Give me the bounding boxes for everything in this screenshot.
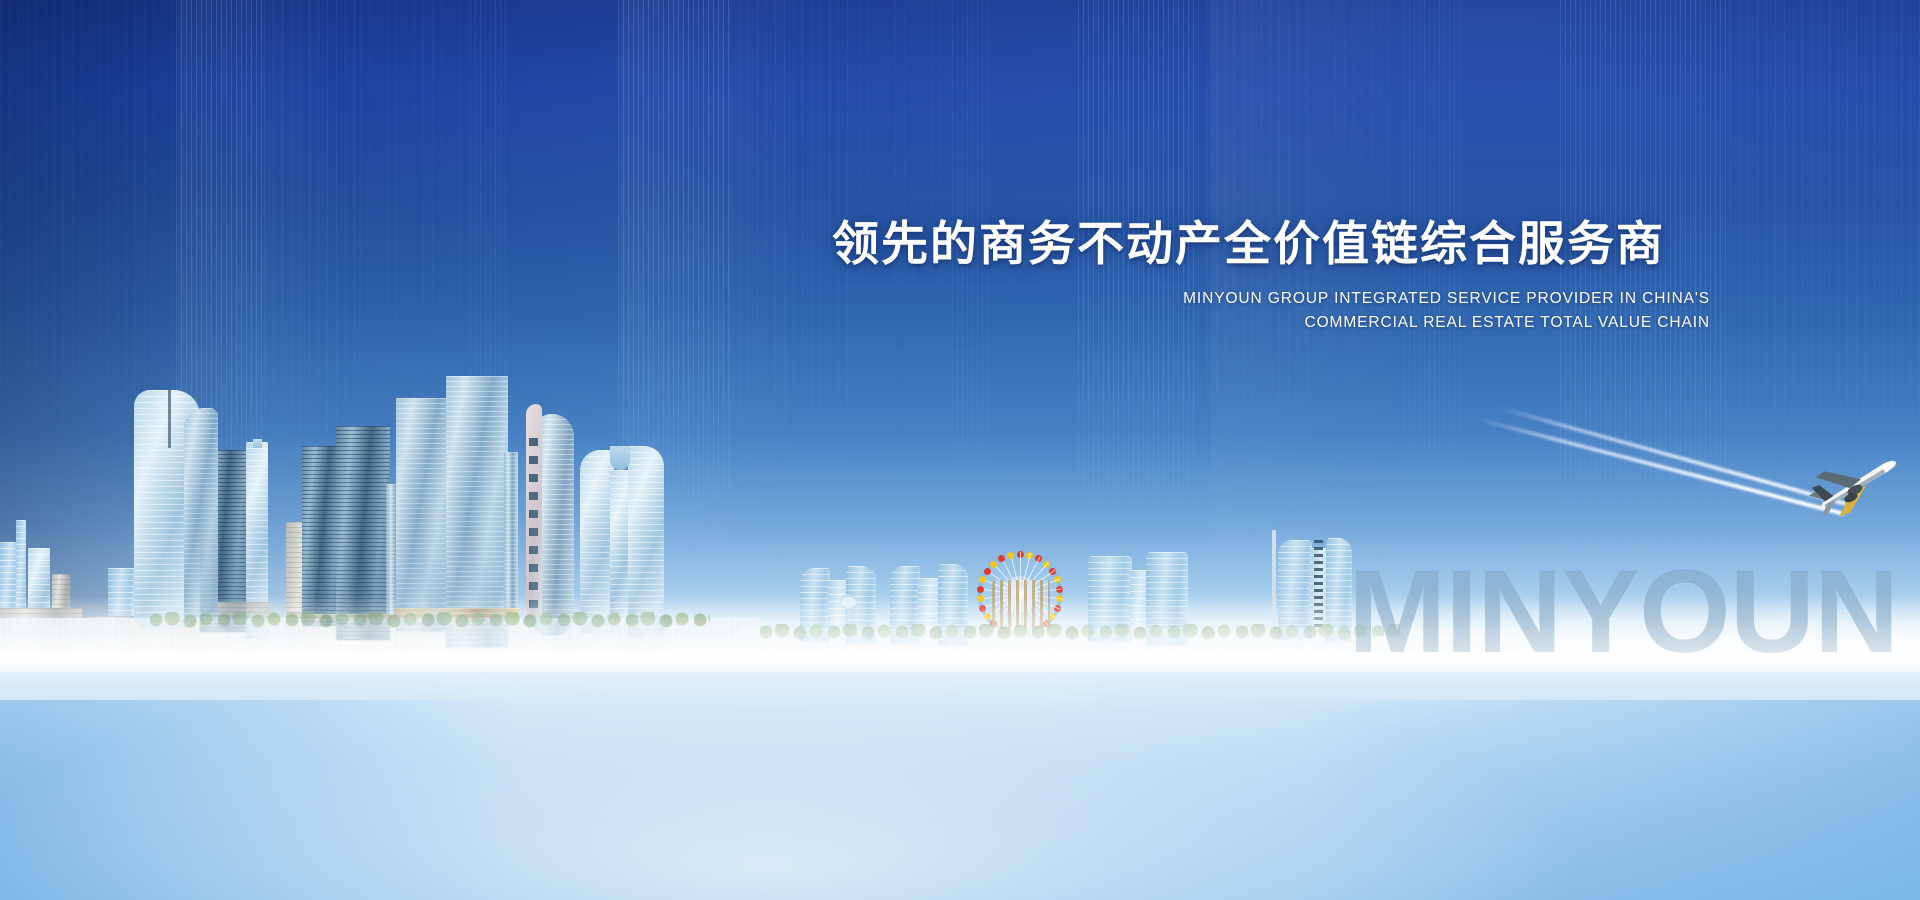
airplane-with-contrails (1420, 452, 1920, 572)
banner-root: MINYOUN (0, 0, 1920, 900)
subtitle-block: MINYOUN GROUP INTEGRATED SERVICE PROVIDE… (760, 287, 1710, 334)
ferris-cabin (998, 555, 1005, 562)
airplane-icon (1800, 446, 1920, 518)
subtitle-line-2: COMMERCIAL REAL ESTATE TOTAL VALUE CHAIN (760, 311, 1710, 335)
city-skyline (0, 0, 1920, 900)
ferris-cabin (1007, 552, 1014, 559)
ferris-cabin (984, 568, 991, 575)
ferris-cabin (990, 561, 997, 568)
page-headline: 领先的商务不动产全价值链综合服务商 (832, 205, 1665, 274)
subtitle-line-1: MINYOUN GROUP INTEGRATED SERVICE PROVIDE… (760, 287, 1710, 311)
